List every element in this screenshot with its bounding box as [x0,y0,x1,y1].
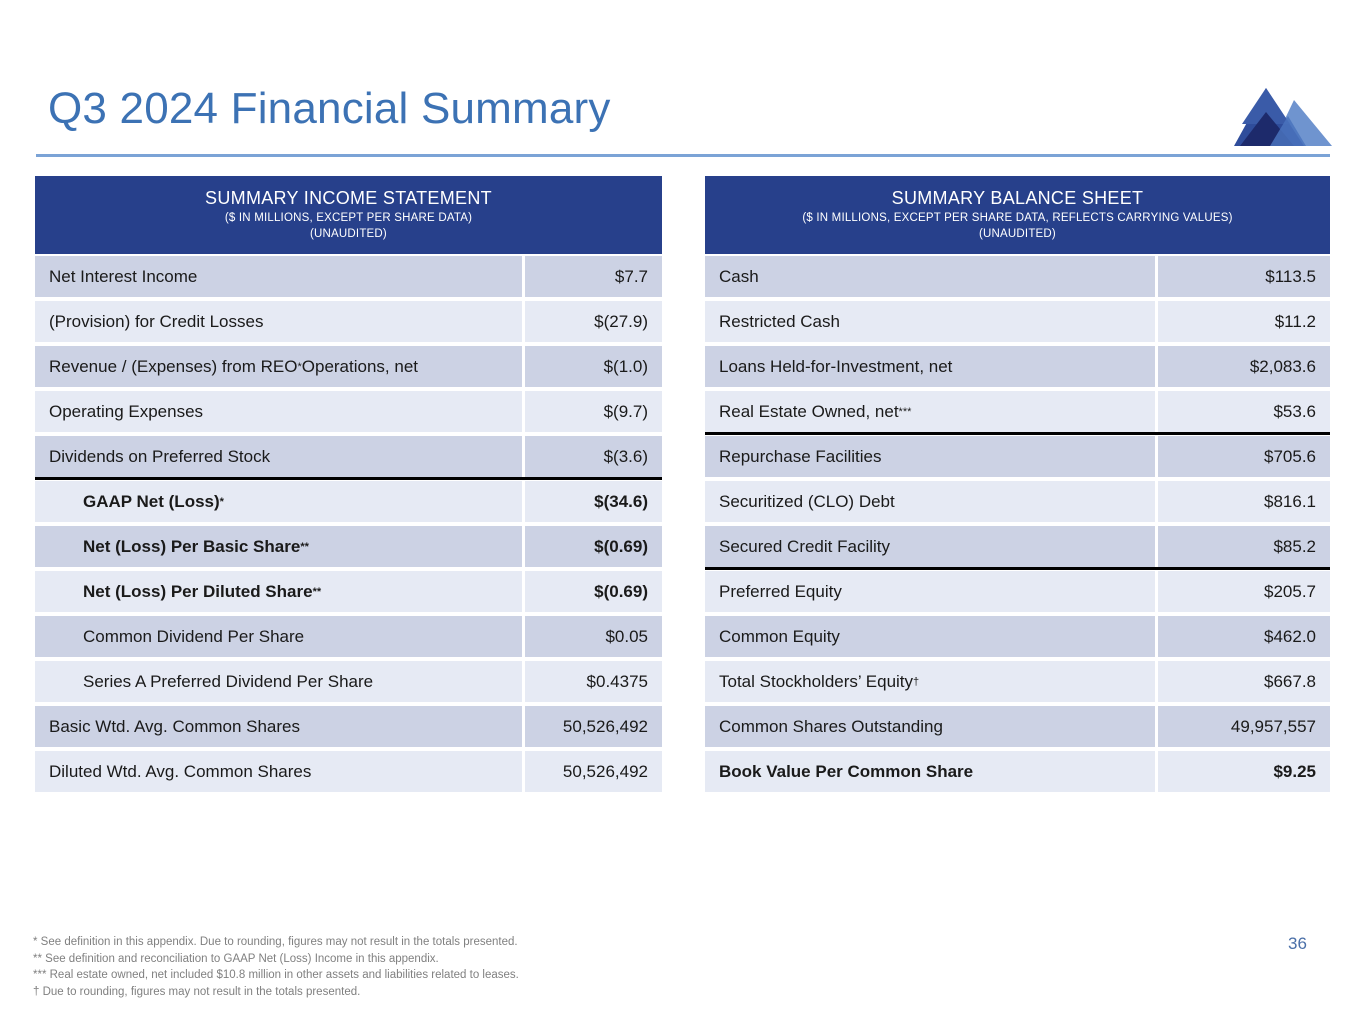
page-number: 36 [1288,934,1307,954]
table-row: Common Dividend Per Share$0.05 [35,614,662,659]
row-value: $(9.7) [525,391,662,432]
row-value: $0.05 [525,616,662,657]
footnote-line: † Due to rounding, figures may not resul… [33,984,519,1001]
row-label: Series A Preferred Dividend Per Share [35,661,522,702]
table-row: Revenue / (Expenses) from REO* Operation… [35,344,662,389]
balance-sheet-title: SUMMARY BALANCE SHEET [711,186,1324,210]
row-label: GAAP Net (Loss)* [35,481,522,522]
row-value: $7.7 [525,256,662,297]
balance-sheet-subtitle-units: ($ IN MILLIONS, EXCEPT PER SHARE DATA, R… [711,210,1324,226]
row-value: $9.25 [1158,751,1330,792]
row-value: 50,526,492 [525,706,662,747]
income-statement-subtitle-audit: (UNAUDITED) [41,226,656,242]
table-row: Series A Preferred Dividend Per Share$0.… [35,659,662,704]
row-label: Net (Loss) Per Diluted Share** [35,571,522,612]
title-divider-rule [36,154,1330,157]
row-value: 49,957,557 [1158,706,1330,747]
row-label: Book Value Per Common Share [705,751,1155,792]
table-row: Net Interest Income$7.7 [35,254,662,299]
table-row: (Provision) for Credit Losses$(27.9) [35,299,662,344]
row-label: Net Interest Income [35,256,522,297]
table-row: Real Estate Owned, net***$53.6 [705,389,1330,434]
table-row: Book Value Per Common Share$9.25 [705,749,1330,794]
row-label: Common Dividend Per Share [35,616,522,657]
income-statement-rows: Net Interest Income$7.7(Provision) for C… [35,254,662,794]
row-value: 50,526,492 [525,751,662,792]
row-label: Restricted Cash [705,301,1155,342]
mountain-logo [1232,86,1332,148]
row-label: Diluted Wtd. Avg. Common Shares [35,751,522,792]
row-value: $11.2 [1158,301,1330,342]
footnote-line: *** Real estate owned, net included $10.… [33,967,519,984]
row-value: $816.1 [1158,481,1330,522]
row-value: $667.8 [1158,661,1330,702]
row-value: $(1.0) [525,346,662,387]
table-row: Common Shares Outstanding49,957,557 [705,704,1330,749]
table-row: Operating Expenses$(9.7) [35,389,662,434]
row-value: $(3.6) [525,436,662,477]
footnote-line: ** See definition and reconciliation to … [33,951,519,968]
summary-income-statement-table: SUMMARY INCOME STATEMENT ($ IN MILLIONS,… [35,176,662,794]
row-label: Secured Credit Facility [705,526,1155,567]
row-value: $(0.69) [525,571,662,612]
row-value: $0.4375 [525,661,662,702]
row-value: $113.5 [1158,256,1330,297]
row-value: $(0.69) [525,526,662,567]
row-label: Operating Expenses [35,391,522,432]
row-value: $(27.9) [525,301,662,342]
row-label: Preferred Equity [705,571,1155,612]
row-label: Cash [705,256,1155,297]
row-label: Real Estate Owned, net*** [705,391,1155,432]
row-value: $(34.6) [525,481,662,522]
row-value: $53.6 [1158,391,1330,432]
row-label: Revenue / (Expenses) from REO* Operation… [35,346,522,387]
table-row: Restricted Cash$11.2 [705,299,1330,344]
income-statement-subtitle-units: ($ IN MILLIONS, EXCEPT PER SHARE DATA) [41,210,656,226]
row-label: Repurchase Facilities [705,436,1155,477]
table-row: Secured Credit Facility$85.2 [705,524,1330,569]
table-row: Total Stockholders’ Equity†$667.8 [705,659,1330,704]
row-value: $705.6 [1158,436,1330,477]
row-label: (Provision) for Credit Losses [35,301,522,342]
table-row: Net (Loss) Per Basic Share**$(0.69) [35,524,662,569]
table-row: Dividends on Preferred Stock$(3.6) [35,434,662,479]
income-statement-header: SUMMARY INCOME STATEMENT ($ IN MILLIONS,… [35,176,662,254]
row-label: Common Shares Outstanding [705,706,1155,747]
footnote-line: * See definition in this appendix. Due t… [33,934,519,951]
balance-sheet-subtitle-audit: (UNAUDITED) [711,226,1324,242]
table-row: Net (Loss) Per Diluted Share**$(0.69) [35,569,662,614]
table-row: Basic Wtd. Avg. Common Shares50,526,492 [35,704,662,749]
row-value: $205.7 [1158,571,1330,612]
row-label: Basic Wtd. Avg. Common Shares [35,706,522,747]
row-label: Total Stockholders’ Equity† [705,661,1155,702]
table-row: Cash$113.5 [705,254,1330,299]
balance-sheet-rows: Cash$113.5Restricted Cash$11.2Loans Held… [705,254,1330,794]
row-label: Dividends on Preferred Stock [35,436,522,477]
table-row: GAAP Net (Loss)*$(34.6) [35,479,662,524]
page-title: Q3 2024 Financial Summary [48,84,611,134]
footnotes: * See definition in this appendix. Due t… [33,934,519,1000]
table-row: Repurchase Facilities$705.6 [705,434,1330,479]
table-row: Preferred Equity$205.7 [705,569,1330,614]
balance-sheet-header: SUMMARY BALANCE SHEET ($ IN MILLIONS, EX… [705,176,1330,254]
row-label: Securitized (CLO) Debt [705,481,1155,522]
table-row: Diluted Wtd. Avg. Common Shares50,526,49… [35,749,662,794]
row-value: $2,083.6 [1158,346,1330,387]
row-value: $85.2 [1158,526,1330,567]
income-statement-title: SUMMARY INCOME STATEMENT [41,186,656,210]
summary-balance-sheet-table: SUMMARY BALANCE SHEET ($ IN MILLIONS, EX… [705,176,1330,794]
table-row: Common Equity$462.0 [705,614,1330,659]
table-row: Securitized (CLO) Debt$816.1 [705,479,1330,524]
row-value: $462.0 [1158,616,1330,657]
row-label: Net (Loss) Per Basic Share** [35,526,522,567]
row-label: Common Equity [705,616,1155,657]
table-row: Loans Held-for-Investment, net$2,083.6 [705,344,1330,389]
row-label: Loans Held-for-Investment, net [705,346,1155,387]
